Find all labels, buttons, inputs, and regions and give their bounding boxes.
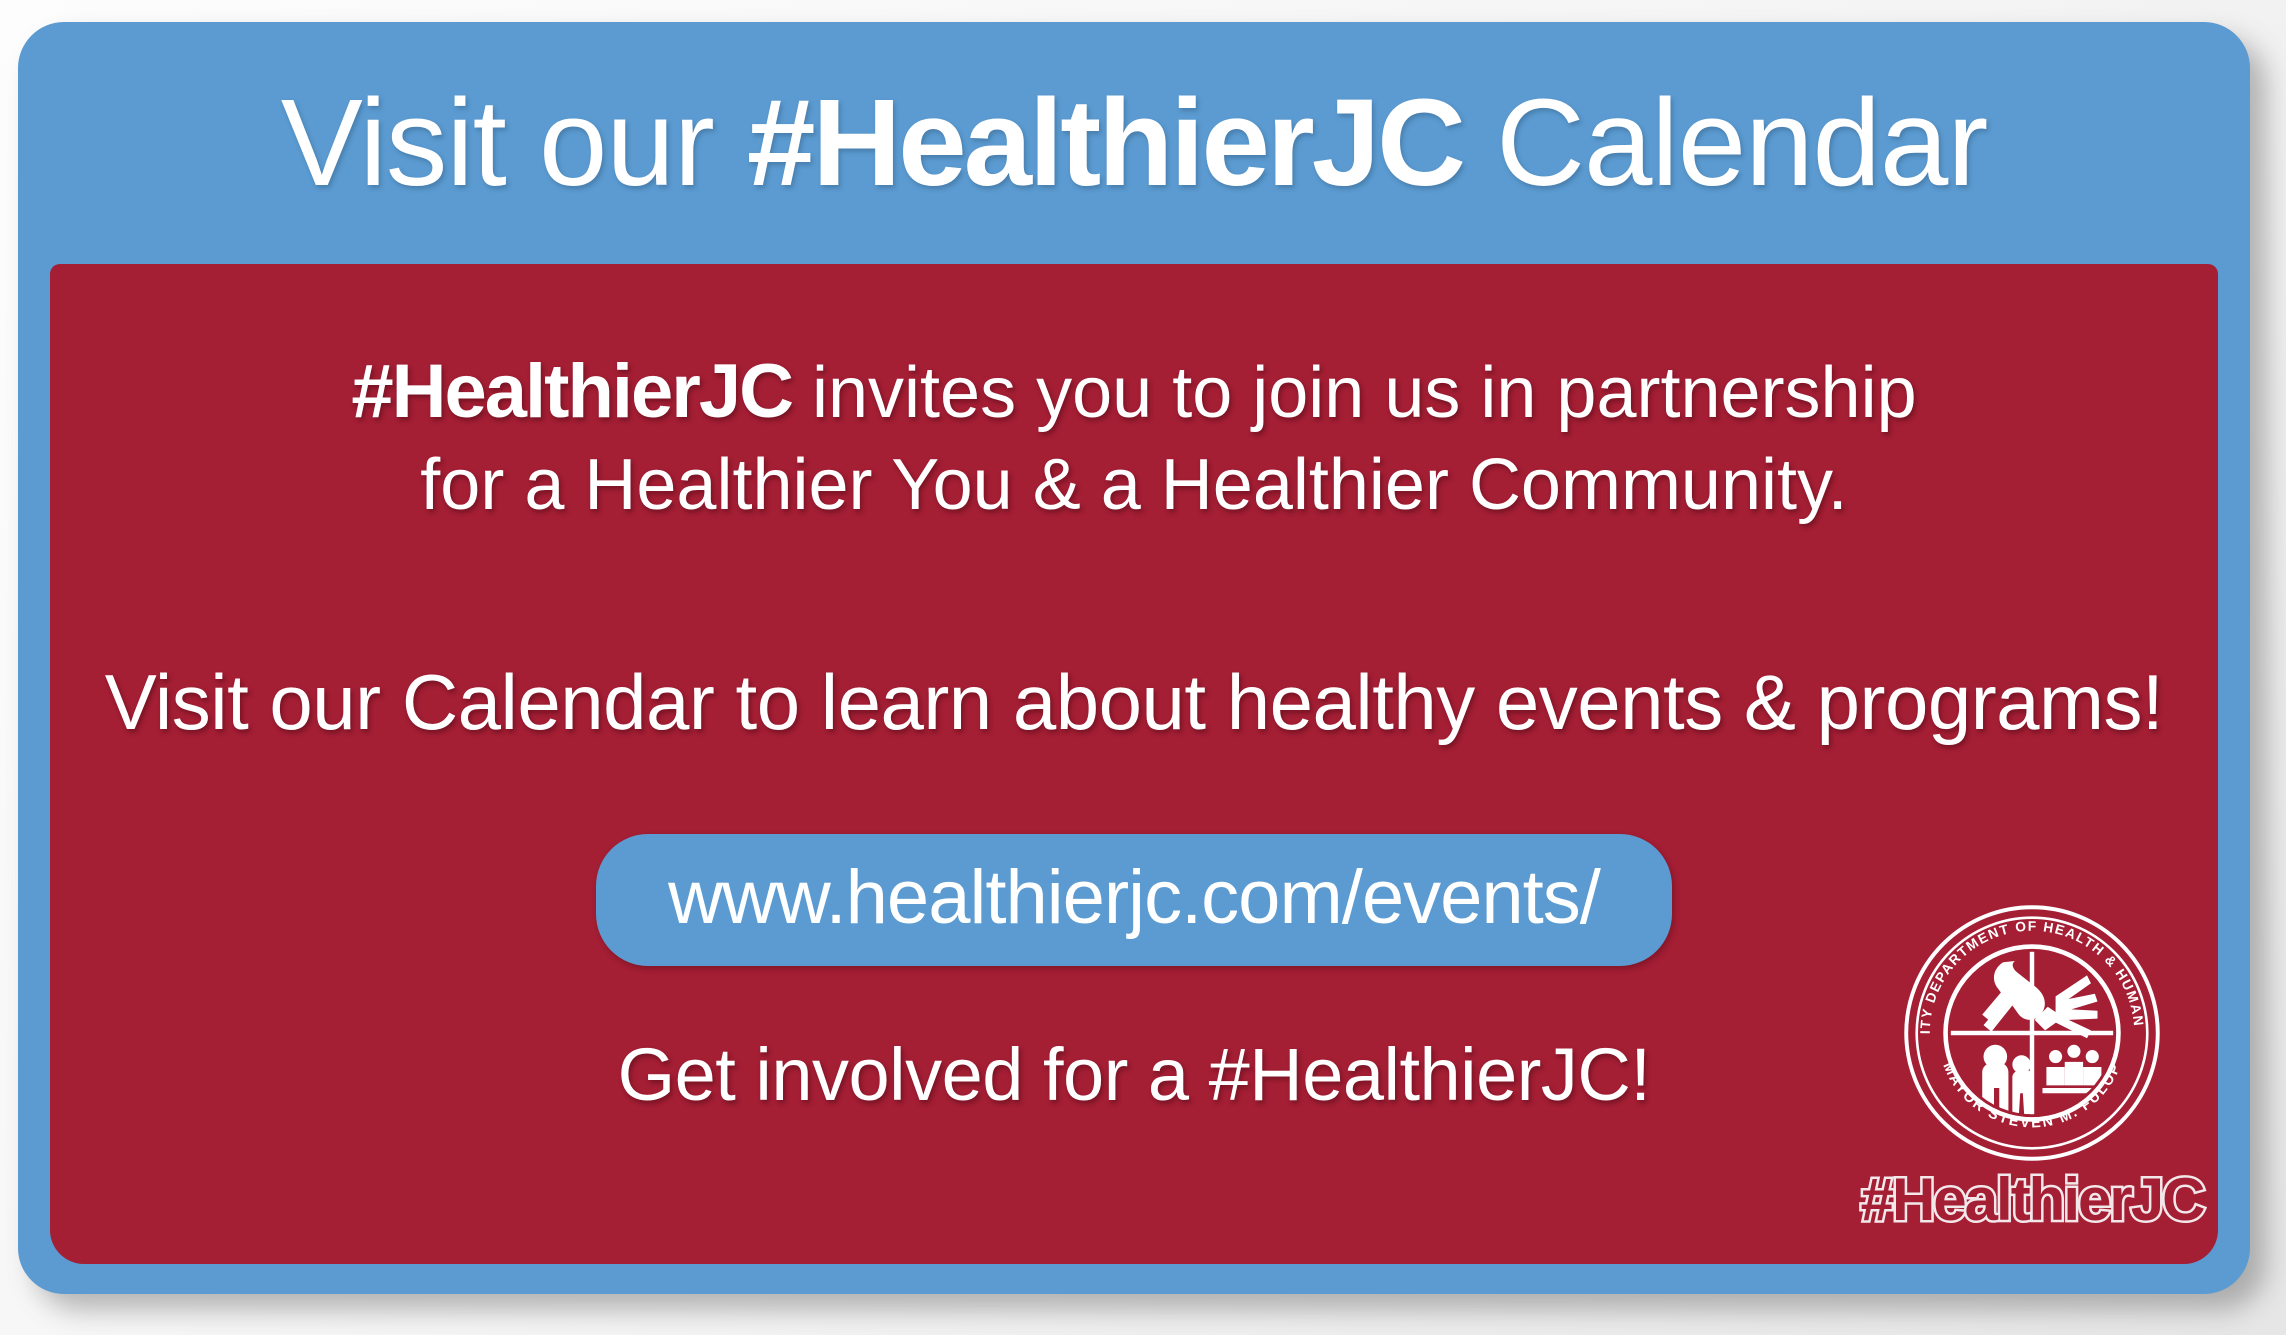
department-logo-lockup: JERSEY CITY DEPARTMENT OF HEALTH & HUMAN… — [1882, 902, 2182, 1230]
card-header-band: Visit our #HealthierJC Calendar — [18, 22, 2250, 264]
intro-line-1-rest: invites you to join us in partnership — [792, 353, 1917, 433]
healthierjc-wordmark: #HealthierJC — [1861, 1170, 2204, 1230]
page-title-brand: #HealthierJC — [747, 75, 1463, 212]
intro-paragraph: #HealthierJC invites you to join us in p… — [50, 344, 2218, 530]
awareness-ribbon-icon — [1982, 961, 2045, 1032]
intro-line-1: #HealthierJC invites you to join us in p… — [50, 344, 2218, 440]
calendar-subline: Visit our Calendar to learn about health… — [50, 656, 2218, 750]
jersey-city-health-seal-icon: JERSEY CITY DEPARTMENT OF HEALTH & HUMAN… — [1901, 902, 2163, 1164]
healthierjc-calendar-card: Visit our #HealthierJC Calendar #Healthi… — [18, 22, 2250, 1294]
page-title-prefix: Visit our — [281, 75, 747, 212]
poster-stage: Visit our #HealthierJC Calendar #Healthi… — [0, 0, 2286, 1335]
intro-brand: #HealthierJC — [351, 349, 792, 434]
card-body-panel: #HealthierJC invites you to join us in p… — [50, 264, 2218, 1264]
calendar-url-button[interactable]: www.healthierjc.com/events/ — [596, 834, 1672, 966]
page-title-suffix: Calendar — [1463, 75, 1987, 212]
page-title: Visit our #HealthierJC Calendar — [281, 82, 1988, 205]
intro-line-2: for a Healthier You & a Healthier Commun… — [50, 440, 2218, 531]
